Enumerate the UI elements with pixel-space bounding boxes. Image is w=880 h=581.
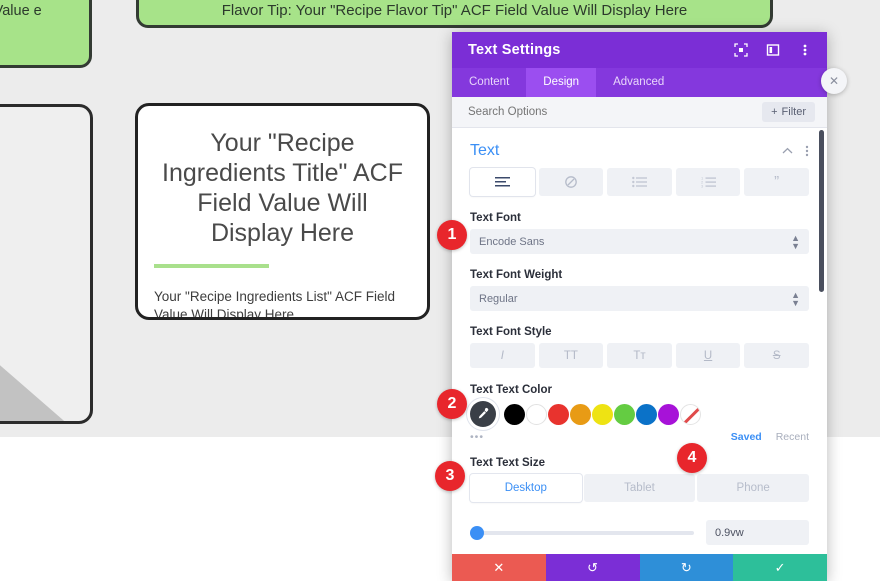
text-size-value-field[interactable]: 0.9vw	[706, 520, 809, 545]
callout-badge-1: 1	[437, 220, 467, 250]
recipe-card-title: Your "Recipe Ingredients Title" ACF Fiel…	[154, 128, 411, 248]
kebab-menu-icon[interactable]	[805, 145, 809, 157]
text-settings-panel: Text Settings	[452, 32, 827, 581]
text-font-weight-value: Regular	[479, 293, 791, 305]
panel-title: Text Settings	[468, 42, 733, 58]
recipe-card-body: Your "Recipe Ingredients List" ACF Field…	[154, 288, 411, 320]
chevron-updown-icon: ▲▼	[791, 234, 800, 250]
eyedropper-icon[interactable]	[470, 401, 496, 427]
chevron-updown-icon: ▲▼	[791, 291, 800, 307]
underline-icon[interactable]: U	[676, 343, 741, 368]
strikethrough-icon[interactable]: S	[744, 343, 809, 368]
text-font-weight-label: Text Font Weight	[470, 269, 809, 281]
blockquote-icon[interactable]: ”	[744, 168, 809, 196]
discard-button[interactable]: ✕	[452, 554, 546, 581]
text-size-slider-row: 0.9vw	[470, 520, 809, 545]
panel-scroll-thumb[interactable]	[819, 130, 824, 292]
text-font-select[interactable]: Encode Sans ▲▼	[470, 229, 809, 254]
font-style-button-row: I TT Tᴛ U S	[470, 343, 809, 368]
text-size-value: 0.9vw	[715, 527, 744, 539]
text-font-style-label: Text Font Style	[470, 326, 809, 338]
search-row: + Filter	[452, 97, 827, 128]
panel-action-bar: ✕ ↺ ↻ ✓	[452, 554, 827, 581]
flavor-tip-banner: Flavor Tip: Your "Recipe Flavor Tip" ACF…	[136, 0, 773, 28]
tab-design[interactable]: Design	[526, 68, 596, 97]
placeholder-stripe	[0, 227, 90, 424]
expand-icon[interactable]	[733, 42, 749, 58]
ordered-list-icon[interactable]: 1 2 3	[676, 168, 741, 196]
saved-colors-link[interactable]: Saved	[731, 431, 762, 443]
panel-header-icons	[733, 42, 817, 58]
flavor-card-partial-text: cipe Value e	[0, 3, 42, 19]
swatch-orange[interactable]	[570, 404, 591, 425]
recipe-ingredients-card: Your "Recipe Ingredients Title" ACF Fiel…	[135, 103, 430, 320]
panel-scrollbar[interactable]	[819, 130, 824, 554]
filter-button[interactable]: + Filter	[762, 102, 815, 122]
italic-icon[interactable]: I	[470, 343, 535, 368]
search-input[interactable]	[468, 106, 762, 118]
swatch-white[interactable]	[526, 404, 547, 425]
swatch-red[interactable]	[548, 404, 569, 425]
color-footer-row: ••• Saved Recent	[470, 431, 809, 443]
more-options-icon[interactable]	[797, 42, 813, 58]
text-size-slider[interactable]	[470, 531, 694, 535]
text-font-value: Encode Sans	[479, 236, 791, 248]
tab-advanced[interactable]: Advanced	[596, 68, 681, 97]
device-tab-row: Desktop Tablet Phone	[470, 474, 809, 502]
screenshot-root: cipe Value e Flavor Tip: Your "Recipe Fl…	[0, 0, 880, 581]
image-placeholder-card	[0, 104, 93, 424]
filter-button-label: Filter	[782, 106, 806, 118]
chevron-up-icon[interactable]	[782, 147, 793, 155]
redo-button[interactable]: ↻	[640, 554, 734, 581]
save-button[interactable]: ✓	[733, 554, 827, 581]
swatch-black[interactable]	[504, 404, 525, 425]
uppercase-icon[interactable]: TT	[539, 343, 604, 368]
panel-tabs: Content Design Advanced	[452, 68, 827, 97]
swatch-transparent[interactable]	[680, 404, 701, 425]
unordered-list-icon[interactable]	[607, 168, 672, 196]
slider-handle[interactable]	[470, 526, 484, 540]
text-size-label: Text Text Size	[470, 457, 809, 469]
text-font-label: Text Font	[470, 212, 809, 224]
close-icon[interactable]: ✕	[821, 68, 847, 94]
section-title: Text	[470, 142, 770, 160]
color-swatch-row	[470, 401, 809, 427]
swatch-yellow[interactable]	[592, 404, 613, 425]
capitalize-icon[interactable]: Tᴛ	[607, 343, 672, 368]
more-colors-icon[interactable]: •••	[470, 431, 731, 443]
swatch-green[interactable]	[614, 404, 635, 425]
callout-badge-2: 2	[437, 389, 467, 419]
link-icon[interactable]	[539, 168, 604, 196]
format-button-row: 1 2 3 ”	[470, 168, 809, 196]
panel-body: Text	[452, 128, 827, 554]
flavor-card-partial: cipe Value e	[0, 0, 92, 68]
callout-badge-4: 4	[677, 443, 707, 473]
recent-colors-link[interactable]: Recent	[776, 431, 809, 443]
svg-text:3: 3	[701, 184, 704, 188]
swatch-purple[interactable]	[658, 404, 679, 425]
flavor-tip-text: Flavor Tip: Your "Recipe Flavor Tip" ACF…	[222, 2, 688, 19]
panel-header: Text Settings	[452, 32, 827, 68]
callout-badge-3: 3	[435, 461, 465, 491]
device-tab-desktop[interactable]: Desktop	[470, 474, 582, 502]
paragraph-icon[interactable]	[470, 168, 535, 196]
swatch-blue[interactable]	[636, 404, 657, 425]
device-tab-phone[interactable]: Phone	[697, 474, 809, 502]
undo-button[interactable]: ↺	[546, 554, 640, 581]
recipe-card-divider	[154, 264, 269, 268]
tab-content[interactable]: Content	[452, 68, 526, 97]
split-view-icon[interactable]	[765, 42, 781, 58]
plus-icon: +	[771, 106, 777, 118]
text-font-weight-select[interactable]: Regular ▲▼	[470, 286, 809, 311]
text-color-label: Text Text Color	[470, 384, 809, 396]
text-section-header: Text	[470, 128, 809, 168]
device-tab-tablet[interactable]: Tablet	[584, 474, 696, 502]
